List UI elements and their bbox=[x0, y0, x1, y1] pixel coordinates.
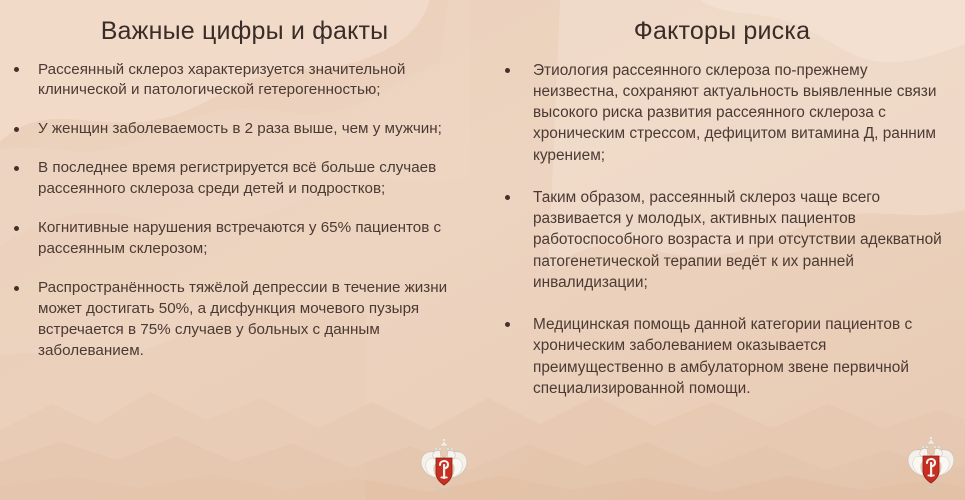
list-item: Когнитивные нарушения встречаются у 65% … bbox=[14, 218, 469, 260]
list-item: В последнее время регистрируется всё бол… bbox=[14, 158, 469, 200]
bullet-text: Распространённость тяжёлой депрессии в т… bbox=[38, 278, 469, 362]
laurel-base bbox=[435, 486, 453, 490]
ministry-of-health-emblem-right bbox=[905, 436, 957, 492]
list-item: Этиология рассеянного склероза по-прежне… bbox=[505, 60, 949, 166]
bullet-text: В последнее время регистрируется всё бол… bbox=[38, 158, 469, 200]
double-headed-eagle-icon bbox=[905, 436, 957, 492]
list-item: Медицинская помощь данной категории паци… bbox=[505, 314, 949, 399]
list-item: У женщин заболеваемость в 2 раза выше, ч… bbox=[14, 119, 469, 140]
eagle-heads bbox=[920, 437, 943, 457]
slide-canvas: Важные цифры и факты Рассеянный склероз … bbox=[0, 0, 965, 500]
bullet-dot-icon bbox=[14, 127, 19, 132]
bullet-dot-icon bbox=[14, 226, 19, 231]
right-column-bullet-list: Этиология рассеянного склероза по-прежне… bbox=[505, 60, 949, 400]
list-item: Таким образом, рассеянный склероз чаще в… bbox=[505, 187, 949, 293]
list-item: Рассеянный склероз характеризуется значи… bbox=[14, 60, 469, 102]
red-shield-icon bbox=[923, 456, 939, 483]
bullet-text: У женщин заболеваемость в 2 раза выше, ч… bbox=[38, 119, 469, 140]
bullet-text: Этиология рассеянного склероза по-прежне… bbox=[533, 60, 949, 166]
left-column-bullet-list: Рассеянный склероз характеризуется значи… bbox=[14, 60, 469, 363]
bullet-dot-icon bbox=[14, 286, 19, 291]
bullet-dot-icon bbox=[14, 67, 19, 72]
double-headed-eagle-icon bbox=[418, 438, 470, 494]
slide-columns: Важные цифры и факты Рассеянный склероз … bbox=[0, 0, 965, 500]
left-column-title: Важные цифры и факты bbox=[14, 18, 469, 46]
bullet-text: Когнитивные нарушения встречаются у 65% … bbox=[38, 218, 469, 260]
column-risk-factors: Факторы риска Этиология рассеянного скле… bbox=[483, 0, 965, 500]
ministry-of-health-emblem-left bbox=[418, 438, 470, 494]
eagle-heads bbox=[433, 439, 456, 459]
column-important-figures: Важные цифры и факты Рассеянный склероз … bbox=[0, 0, 483, 500]
bullet-dot-icon bbox=[505, 322, 510, 327]
red-shield-icon bbox=[436, 458, 452, 485]
bullet-text: Таким образом, рассеянный склероз чаще в… bbox=[533, 187, 949, 293]
bullet-text: Медицинская помощь данной категории паци… bbox=[533, 314, 949, 399]
bullet-text: Рассеянный склероз характеризуется значи… bbox=[38, 60, 469, 102]
bullet-dot-icon bbox=[505, 195, 510, 200]
bullet-dot-icon bbox=[505, 68, 510, 73]
bullet-dot-icon bbox=[14, 166, 19, 171]
list-item: Распространённость тяжёлой депрессии в т… bbox=[14, 278, 469, 362]
right-column-title: Факторы риска bbox=[505, 18, 949, 46]
laurel-base bbox=[922, 484, 940, 488]
